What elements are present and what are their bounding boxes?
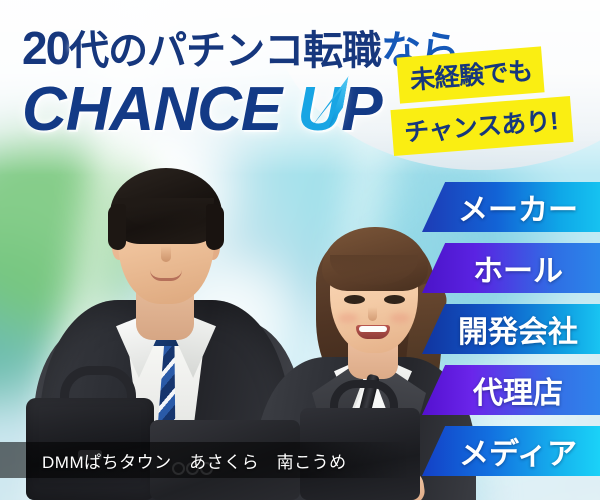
credit-caption-text: DMMぱちタウン あさくら 南こうめ bbox=[0, 448, 347, 473]
category-bar-agency[interactable]: 代理店 bbox=[422, 365, 600, 415]
category-bar-hall[interactable]: ホール bbox=[422, 243, 600, 293]
category-bar-maker[interactable]: メーカー bbox=[422, 182, 600, 232]
category-bar-media[interactable]: メディア bbox=[422, 426, 600, 476]
category-label: 開発会社 bbox=[444, 307, 578, 351]
category-bar-list: メーカー ホール 開発会社 代理店 メディア bbox=[0, 0, 600, 500]
category-label: ホール bbox=[459, 246, 563, 290]
category-label: 代理店 bbox=[459, 368, 563, 412]
pachinko-job-ad-banner: 20代のパチンコ転職なら CHANCE UP 未経験でも チャンスあり! メーカ… bbox=[0, 0, 600, 500]
category-label: メーカー bbox=[444, 185, 578, 229]
category-label: メディア bbox=[445, 429, 577, 473]
category-bar-developer[interactable]: 開発会社 bbox=[422, 304, 600, 354]
credit-caption-bar: DMMぱちタウン あさくら 南こうめ bbox=[0, 442, 410, 478]
